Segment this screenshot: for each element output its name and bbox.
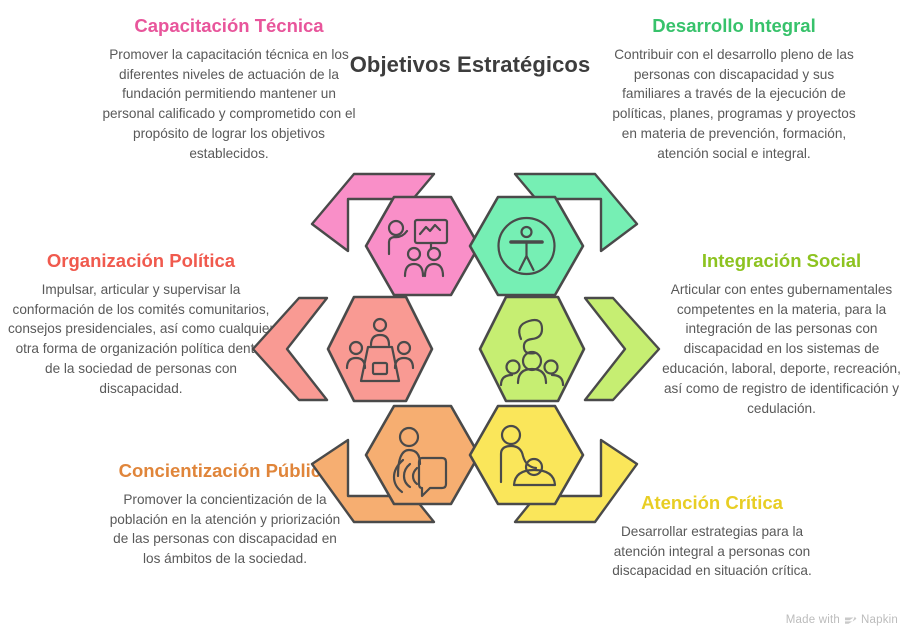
objective-block-organizacion: Organización Política Impulsar, articula… (8, 249, 274, 399)
hexagon-shape-integracion (480, 297, 584, 401)
objective-title-organizacion: Organización Política (8, 249, 274, 273)
napkin-logo-icon (844, 614, 857, 627)
napkin-watermark: Made with Napkin (786, 613, 898, 626)
hexagon-integracion[interactable] (468, 289, 668, 414)
page-title: Objetivos Estratégicos (340, 52, 600, 78)
objective-body-capacitacion: Promover la capacitación técnica en los … (98, 45, 360, 164)
hexagon-shape-organizacion (328, 297, 432, 401)
objective-body-organizacion: Impulsar, articular y supervisar la conf… (8, 280, 274, 399)
objective-block-integracion: Integración Social Articular con entes g… (660, 249, 903, 419)
hexagon-atencion[interactable] (461, 404, 641, 539)
hexagon-organizacion[interactable] (244, 289, 444, 414)
objective-block-capacitacion: Capacitación Técnica Promover la capacit… (98, 14, 360, 164)
chevron-right-icon (585, 298, 659, 400)
objective-title-integracion: Integración Social (660, 249, 903, 273)
hexagon-shape-atencion (470, 406, 583, 504)
infographic-canvas: Objetivos Estratégicos Capacitación Técn… (0, 0, 912, 636)
objective-block-desarrollo: Desarrollo Integral Contribuir con el de… (608, 14, 860, 164)
hexagon-cluster (256, 166, 656, 526)
watermark-brand: Napkin (861, 614, 898, 626)
objective-body-desarrollo: Contribuir con el desarrollo pleno de la… (608, 45, 860, 164)
objective-body-integracion: Articular con entes gubernamentales comp… (660, 280, 903, 419)
objective-title-capacitacion: Capacitación Técnica (98, 14, 360, 38)
objective-title-desarrollo: Desarrollo Integral (608, 14, 860, 38)
watermark-text: Made with (786, 614, 840, 626)
chevron-left-icon (253, 298, 327, 400)
